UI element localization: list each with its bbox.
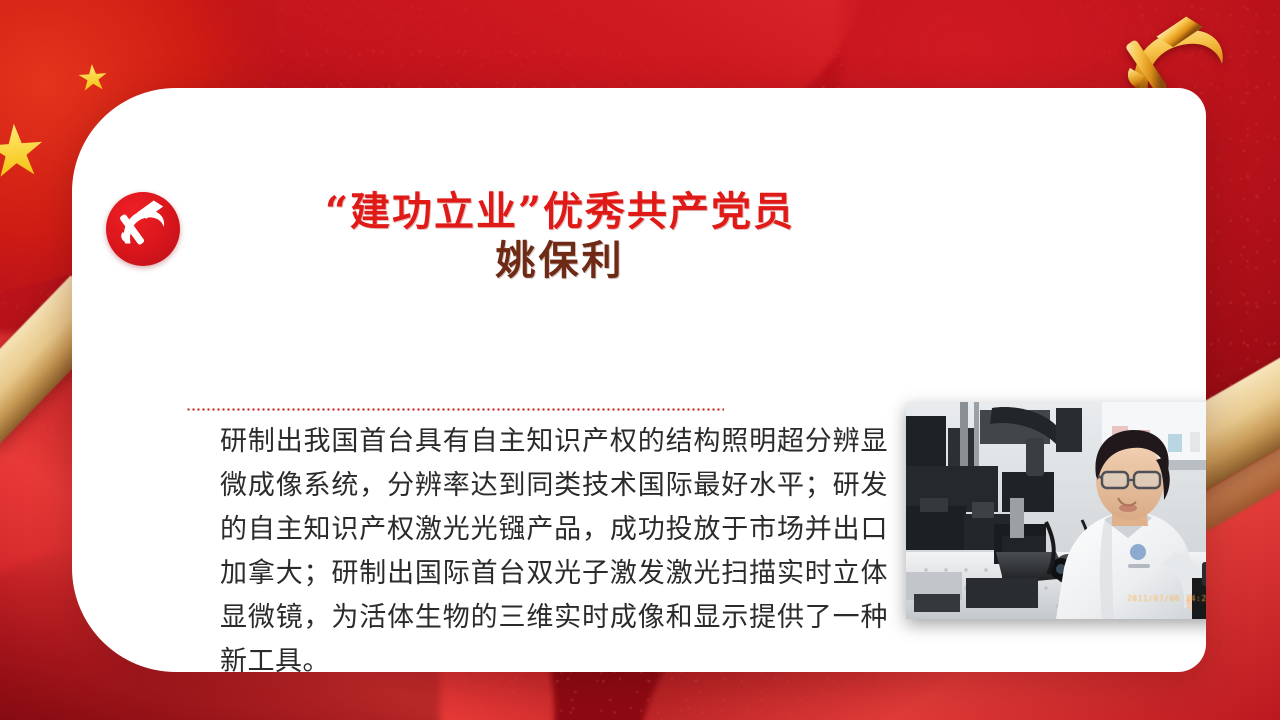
slide-root: “建功立业”优秀共产党员 姚保利 研制出我国首台具有自主知识产权的结构照明超分辨… <box>0 0 1280 720</box>
scientist-laboratory-photo: 2011/07/08 14:22 <box>906 402 1206 619</box>
body-paragraph: 研制出我国首台具有自主知识产权的结构照明超分辨显微成像系统，分辨率达到同类技术国… <box>220 420 888 672</box>
content-card: “建功立业”优秀共产党员 姚保利 研制出我国首台具有自主知识产权的结构照明超分辨… <box>72 88 1206 672</box>
page-title-line2: 姚保利 <box>210 237 910 286</box>
party-emblem-badge <box>106 192 180 266</box>
photo-timestamp-watermark: 2011/07/08 14:22 <box>1127 594 1206 603</box>
dotted-divider <box>186 408 724 411</box>
title-block: “建功立业”优秀共产党员 姚保利 <box>210 188 910 286</box>
page-title-line1: “建功立业”优秀共产党员 <box>210 188 910 237</box>
